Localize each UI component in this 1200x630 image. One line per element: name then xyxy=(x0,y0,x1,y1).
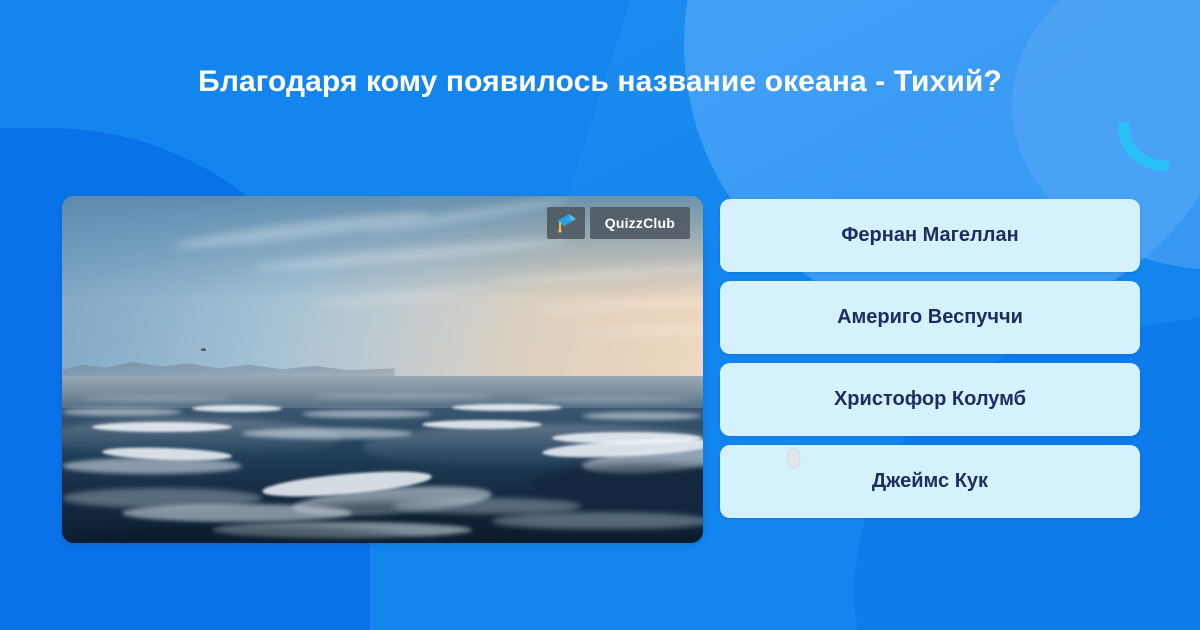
question-image-card: QuizzClub xyxy=(62,196,703,543)
answer-option-label: Джеймс Кук xyxy=(872,470,988,493)
page-title: Благодаря кому появилось название океана… xyxy=(198,62,1002,102)
foam-streak xyxy=(492,512,703,530)
drag-handle[interactable] xyxy=(788,449,799,468)
crescent-arc-icon xyxy=(1118,122,1170,172)
answer-option-label: Америго Веспуччи xyxy=(837,306,1023,329)
foam-streak xyxy=(452,404,562,411)
foam-streak xyxy=(532,397,692,402)
answer-option-4[interactable]: Джеймс Кук xyxy=(720,445,1140,518)
foam-streak xyxy=(192,405,282,412)
quiz-card: Благодаря кому появилось название океана… xyxy=(0,0,1200,630)
answer-option-2[interactable]: Америго Веспуччи xyxy=(720,281,1140,354)
ocean-photo: QuizzClub xyxy=(62,196,703,543)
bird-speck xyxy=(201,348,206,351)
answer-option-label: Христофор Колумб xyxy=(834,388,1026,411)
foam-streak xyxy=(122,504,352,522)
answer-option-1[interactable]: Фернан Магеллан xyxy=(720,199,1140,272)
foam-streak xyxy=(62,408,182,416)
foam-streak xyxy=(302,410,432,418)
foam-streak xyxy=(422,420,542,429)
foam-streak xyxy=(312,394,492,399)
foam-streak xyxy=(62,458,242,474)
question-title-bar: Благодаря кому появилось название океана… xyxy=(0,62,1200,102)
graduation-cap-icon xyxy=(547,207,585,239)
brand-badge: QuizzClub xyxy=(547,207,690,239)
foam-streak xyxy=(92,422,232,432)
foam-streak xyxy=(242,428,412,439)
answer-options-list: Фернан Магеллан Америго Веспуччи Христоф… xyxy=(720,199,1140,518)
answer-option-3[interactable]: Христофор Колумб xyxy=(720,363,1140,436)
foam-streak xyxy=(82,396,232,401)
brand-name-label: QuizzClub xyxy=(590,207,690,239)
foam-streak xyxy=(392,498,582,514)
answer-option-label: Фернан Магеллан xyxy=(841,224,1018,247)
foam-streak xyxy=(582,412,702,420)
